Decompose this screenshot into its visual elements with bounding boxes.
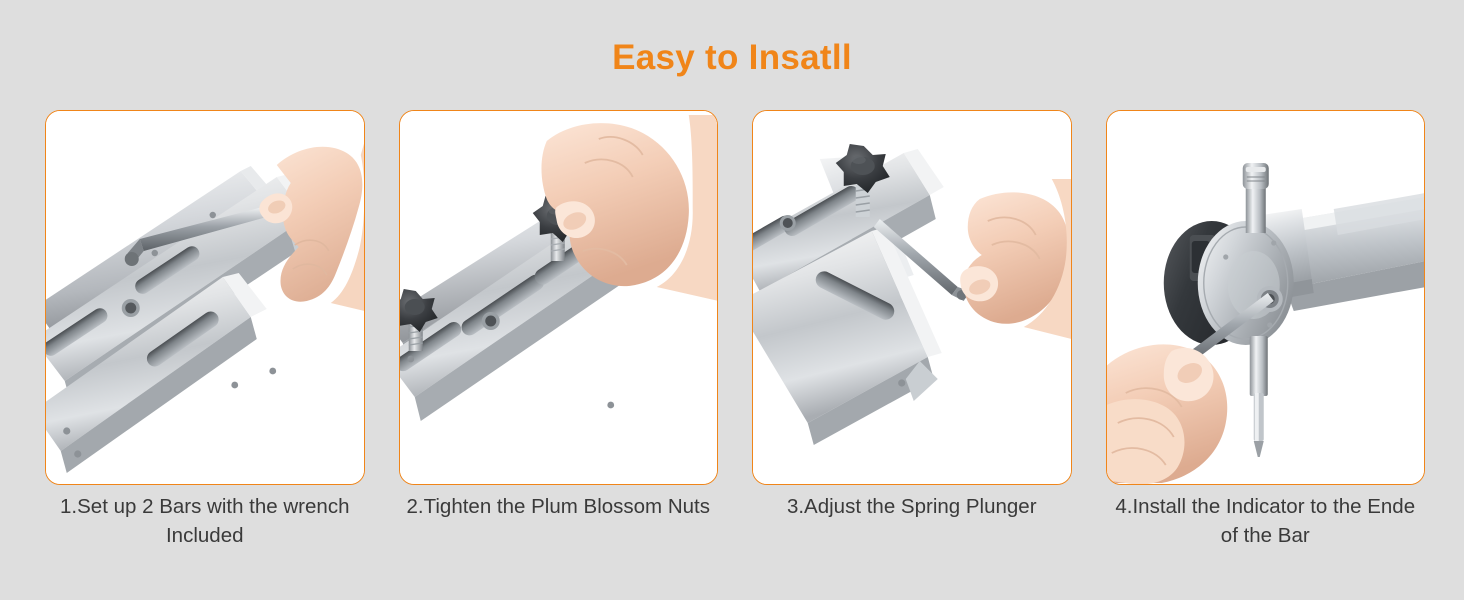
- step-panel-2: [399, 110, 719, 485]
- step-panel-3: [752, 110, 1072, 485]
- caption-row: 1.Set up 2 Bars with the wrench Included…: [45, 492, 1425, 572]
- step-2-photo: [400, 111, 718, 484]
- step-caption-2: 2.Tighten the Plum Blossom Nuts: [399, 492, 719, 572]
- indicator-top-stem: [1242, 163, 1268, 233]
- step-caption-3: 3.Adjust the Spring Plunger: [752, 492, 1072, 572]
- step-panel-row: [45, 110, 1425, 485]
- step-caption-1: 1.Set up 2 Bars with the wrench Included: [45, 492, 365, 572]
- step-1-photo: [46, 111, 364, 484]
- step-3-photo: [753, 111, 1071, 484]
- infographic-page: Easy to Insatll: [0, 0, 1464, 600]
- step-panel-4: [1106, 110, 1426, 485]
- step-panel-1: [45, 110, 365, 485]
- step-caption-4: 4.Install the Indicator to the Ende of t…: [1106, 492, 1426, 572]
- step-4-photo: [1107, 111, 1425, 484]
- page-title: Easy to Insatll: [0, 36, 1464, 80]
